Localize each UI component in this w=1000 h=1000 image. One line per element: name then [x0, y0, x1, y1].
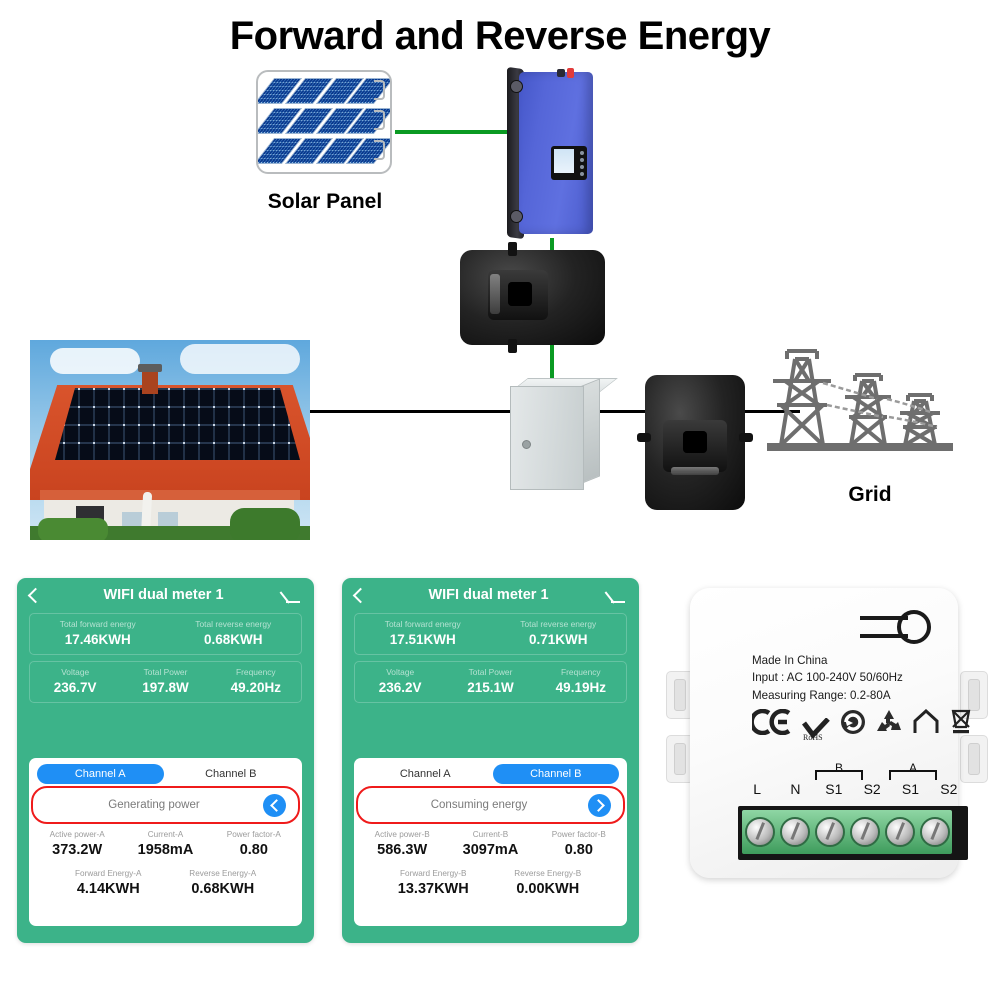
card-b-mode-bar: Consuming energy: [360, 790, 621, 820]
grid-tie-inverter: [505, 68, 597, 240]
screw-terminal-2: [780, 817, 810, 847]
total-power-label: Total Power: [445, 667, 535, 677]
ct-clamp-grid: [645, 375, 745, 510]
total-forward-energy-label: Total forward energy: [355, 619, 491, 629]
voltage-stat: Voltage 236.2V: [355, 667, 445, 695]
terminal-label-b-s2: S2: [853, 781, 891, 797]
certification-icons: RoHS: [752, 706, 962, 740]
forward-energy-a-label: Forward Energy-A: [51, 869, 166, 878]
terminal-label-b-s1: S1: [815, 781, 853, 797]
breaker-box: [510, 378, 600, 488]
terminal-label-a-s2: S2: [930, 781, 968, 797]
card-a-detail-panel: Channel A Channel B Generating power Act…: [29, 758, 302, 926]
forward-energy-b-value: 13.37KWH: [376, 881, 491, 897]
card-a-mode-bar: Generating power: [35, 790, 296, 820]
total-forward-energy: Total forward energy 17.51KWH: [355, 619, 491, 647]
total-forward-energy-value: 17.46KWH: [30, 632, 166, 647]
screw-terminal-5: [885, 817, 915, 847]
inverter-display: [551, 146, 587, 180]
screw-terminal-3: [815, 817, 845, 847]
total-reverse-energy-label: Total reverse energy: [166, 619, 302, 629]
current-a: Current-A 1958mA: [121, 830, 209, 858]
spec-line-made-in: Made In China: [752, 652, 903, 669]
terminal-label-l: L: [738, 781, 776, 797]
ct-clamp-solar: [460, 250, 605, 345]
total-forward-energy-value: 17.51KWH: [355, 632, 491, 647]
screw-terminal-4: [850, 817, 880, 847]
forward-energy-a: Forward Energy-A 4.14KWH: [51, 869, 166, 897]
frequency-stat: Frequency 49.20Hz: [211, 667, 301, 695]
power-factor-a-value: 0.80: [210, 842, 298, 858]
card-a-energy-row: Forward Energy-A 4.14KWH Reverse Energy-…: [29, 869, 302, 897]
card-b-title: WIFI dual meter 1: [366, 587, 611, 603]
tab-channel-b[interactable]: Channel B: [168, 764, 295, 784]
chevron-left-icon[interactable]: [263, 794, 286, 817]
spec-line-input: Input : AC 100-240V 50/60Hz: [752, 669, 903, 686]
grid-pylons-icon: [765, 335, 955, 455]
meter-card-channel-a: WIFI dual meter 1 Total forward energy 1…: [17, 578, 314, 943]
card-b-metrics-row: Active power-B 586.3W Current-B 3097mA P…: [354, 830, 627, 858]
forward-energy-a-value: 4.14KWH: [51, 881, 166, 897]
total-power-value: 215.1W: [445, 680, 535, 695]
total-forward-energy: Total forward energy 17.46KWH: [30, 619, 166, 647]
active-power-a: Active power-A 373.2W: [33, 830, 121, 858]
card-a-tabs: Channel A Channel B: [29, 758, 302, 784]
total-power-stat: Total Power 197.8W: [120, 667, 210, 695]
wire-solar-to-inverter: [395, 130, 511, 134]
screw-terminal-1: [745, 817, 775, 847]
grid-label: Grid: [810, 483, 930, 507]
screw-terminal-block: [738, 806, 968, 860]
reverse-energy-a-label: Reverse Energy-A: [166, 869, 281, 878]
frequency-label: Frequency: [211, 667, 301, 677]
weee-bin-icon: [949, 707, 973, 740]
group-a-letter: A: [909, 761, 917, 775]
bracket-group-b: B A: [738, 764, 968, 780]
reverse-energy-a-value: 0.68KWH: [166, 881, 281, 897]
frequency-stat: Frequency 49.19Hz: [536, 667, 626, 695]
forward-energy-b-label: Forward Energy-B: [376, 869, 491, 878]
frequency-value: 49.20Hz: [211, 680, 301, 695]
back-chevron-icon[interactable]: [30, 590, 41, 601]
tab-channel-a[interactable]: Channel A: [37, 764, 164, 784]
edit-pencil-icon[interactable]: [286, 588, 301, 603]
device-spec-text: Made In China Input : AC 100-240V 50/60H…: [752, 652, 903, 704]
card-b-energy-row: Forward Energy-B 13.37KWH Reverse Energy…: [354, 869, 627, 897]
power-factor-a: Power factor-A 0.80: [210, 830, 298, 858]
voltage-stat: Voltage 236.7V: [30, 667, 120, 695]
frequency-value: 49.19Hz: [536, 680, 626, 695]
card-a-totals-panel: Total forward energy 17.46KWH Total reve…: [29, 613, 302, 655]
wifi-dual-meter-module: Made In China Input : AC 100-240V 50/60H…: [662, 583, 992, 903]
recycle-icon: [875, 709, 903, 740]
screw-terminal-6: [920, 817, 950, 847]
ce-mark-icon: [752, 709, 792, 740]
active-power-b: Active power-B 586.3W: [358, 830, 446, 858]
current-a-value: 1958mA: [121, 842, 209, 858]
reverse-energy-b: Reverse Energy-B 0.00KWH: [491, 869, 606, 897]
power-factor-b-label: Power factor-B: [535, 830, 623, 839]
green-dot-icon: [840, 709, 866, 740]
total-reverse-energy: Total reverse energy 0.68KWH: [166, 619, 302, 647]
total-reverse-energy-value: 0.71KWH: [491, 632, 627, 647]
current-b: Current-B 3097mA: [446, 830, 534, 858]
card-b-tabs: Channel A Channel B: [354, 758, 627, 784]
total-power-stat: Total Power 215.1W: [445, 667, 535, 695]
house-icon: [912, 709, 940, 740]
terminal-label-a-s1: S1: [891, 781, 929, 797]
wire-house-to-breaker: [310, 410, 515, 413]
power-factor-b: Power factor-B 0.80: [535, 830, 623, 858]
back-chevron-icon[interactable]: [355, 590, 366, 601]
rohs-label: RoHS: [803, 733, 823, 742]
tab-channel-b[interactable]: Channel B: [493, 764, 620, 784]
keyhole-slot-icon: [858, 610, 934, 644]
tab-channel-a[interactable]: Channel A: [362, 764, 489, 784]
chevron-right-icon[interactable]: [588, 794, 611, 817]
reverse-energy-b-label: Reverse Energy-B: [491, 869, 606, 878]
solar-panel-icon: [256, 70, 392, 174]
power-factor-a-label: Power factor-A: [210, 830, 298, 839]
mode-text: Consuming energy: [370, 799, 588, 811]
current-b-value: 3097mA: [446, 842, 534, 858]
card-a-metrics-row: Active power-A 373.2W Current-A 1958mA P…: [29, 830, 302, 858]
reverse-energy-b-value: 0.00KWH: [491, 881, 606, 897]
solar-panel-label: Solar Panel: [250, 190, 400, 214]
card-a-header: WIFI dual meter 1: [17, 578, 314, 612]
current-a-label: Current-A: [121, 830, 209, 839]
active-power-b-value: 586.3W: [358, 842, 446, 858]
current-b-label: Current-B: [446, 830, 534, 839]
terminal-label-n: N: [776, 781, 814, 797]
total-power-value: 197.8W: [120, 680, 210, 695]
total-reverse-energy-label: Total reverse energy: [491, 619, 627, 629]
system-diagram: Solar Panel: [0, 0, 1000, 560]
card-b-header: WIFI dual meter 1: [342, 578, 639, 612]
spec-line-range: Measuring Range: 0.2-80A: [752, 687, 903, 704]
mode-text: Generating power: [45, 799, 263, 811]
voltage-value: 236.7V: [30, 680, 120, 695]
card-b-totals-panel: Total forward energy 17.51KWH Total reve…: [354, 613, 627, 655]
terminal-group-brackets: B A L N S1 S2 S1 S2: [738, 764, 968, 797]
total-forward-energy-label: Total forward energy: [30, 619, 166, 629]
power-factor-b-value: 0.80: [535, 842, 623, 858]
total-reverse-energy: Total reverse energy 0.71KWH: [491, 619, 627, 647]
active-power-b-label: Active power-B: [358, 830, 446, 839]
forward-energy-b: Forward Energy-B 13.37KWH: [376, 869, 491, 897]
total-reverse-energy-value: 0.68KWH: [166, 632, 302, 647]
terminal-labels: L N S1 S2 S1 S2: [738, 781, 968, 797]
total-power-label: Total Power: [120, 667, 210, 677]
house-photo: [30, 340, 310, 540]
voltage-value: 236.2V: [355, 680, 445, 695]
active-power-a-label: Active power-A: [33, 830, 121, 839]
card-a-mains-panel: Voltage 236.7V Total Power 197.8W Freque…: [29, 661, 302, 703]
card-a-title: WIFI dual meter 1: [41, 587, 286, 603]
rohs-check-icon: RoHS: [801, 718, 831, 740]
frequency-label: Frequency: [536, 667, 626, 677]
reverse-energy-a: Reverse Energy-A 0.68KWH: [166, 869, 281, 897]
voltage-label: Voltage: [355, 667, 445, 677]
meter-card-channel-b: WIFI dual meter 1 Total forward energy 1…: [342, 578, 639, 943]
active-power-a-value: 373.2W: [33, 842, 121, 858]
voltage-label: Voltage: [30, 667, 120, 677]
edit-pencil-icon[interactable]: [611, 588, 626, 603]
card-b-detail-panel: Channel A Channel B Consuming energy Act…: [354, 758, 627, 926]
card-b-mains-panel: Voltage 236.2V Total Power 215.1W Freque…: [354, 661, 627, 703]
